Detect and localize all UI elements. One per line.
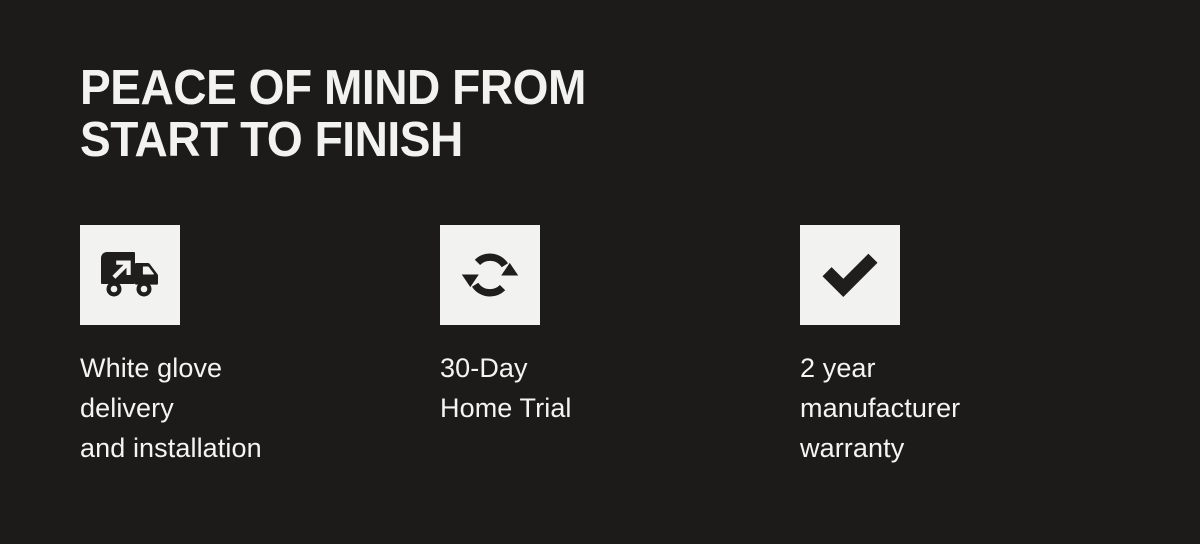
delivery-truck-icon	[99, 250, 161, 300]
page-title: Peace of mind from start to finish	[80, 62, 1058, 166]
feature-label-warranty: 2 year manufacturer warranty	[800, 348, 960, 468]
feature-item-home-trial: 30-Day Home Trial	[440, 225, 800, 428]
feature-item-warranty: 2 year manufacturer warranty	[800, 225, 1160, 468]
delivery-truck-icon-tile	[80, 225, 180, 325]
peace-of-mind-banner: Peace of mind from start to finish	[0, 0, 1200, 544]
feature-list: White glove delivery and installation 30…	[80, 225, 1180, 468]
refresh-cycle-icon	[461, 248, 519, 302]
refresh-cycle-icon-tile	[440, 225, 540, 325]
feature-item-delivery: White glove delivery and installation	[80, 225, 440, 468]
feature-label-home-trial: 30-Day Home Trial	[440, 348, 572, 428]
checkmark-icon-tile	[800, 225, 900, 325]
checkmark-icon	[821, 251, 879, 299]
feature-label-delivery: White glove delivery and installation	[80, 348, 262, 468]
